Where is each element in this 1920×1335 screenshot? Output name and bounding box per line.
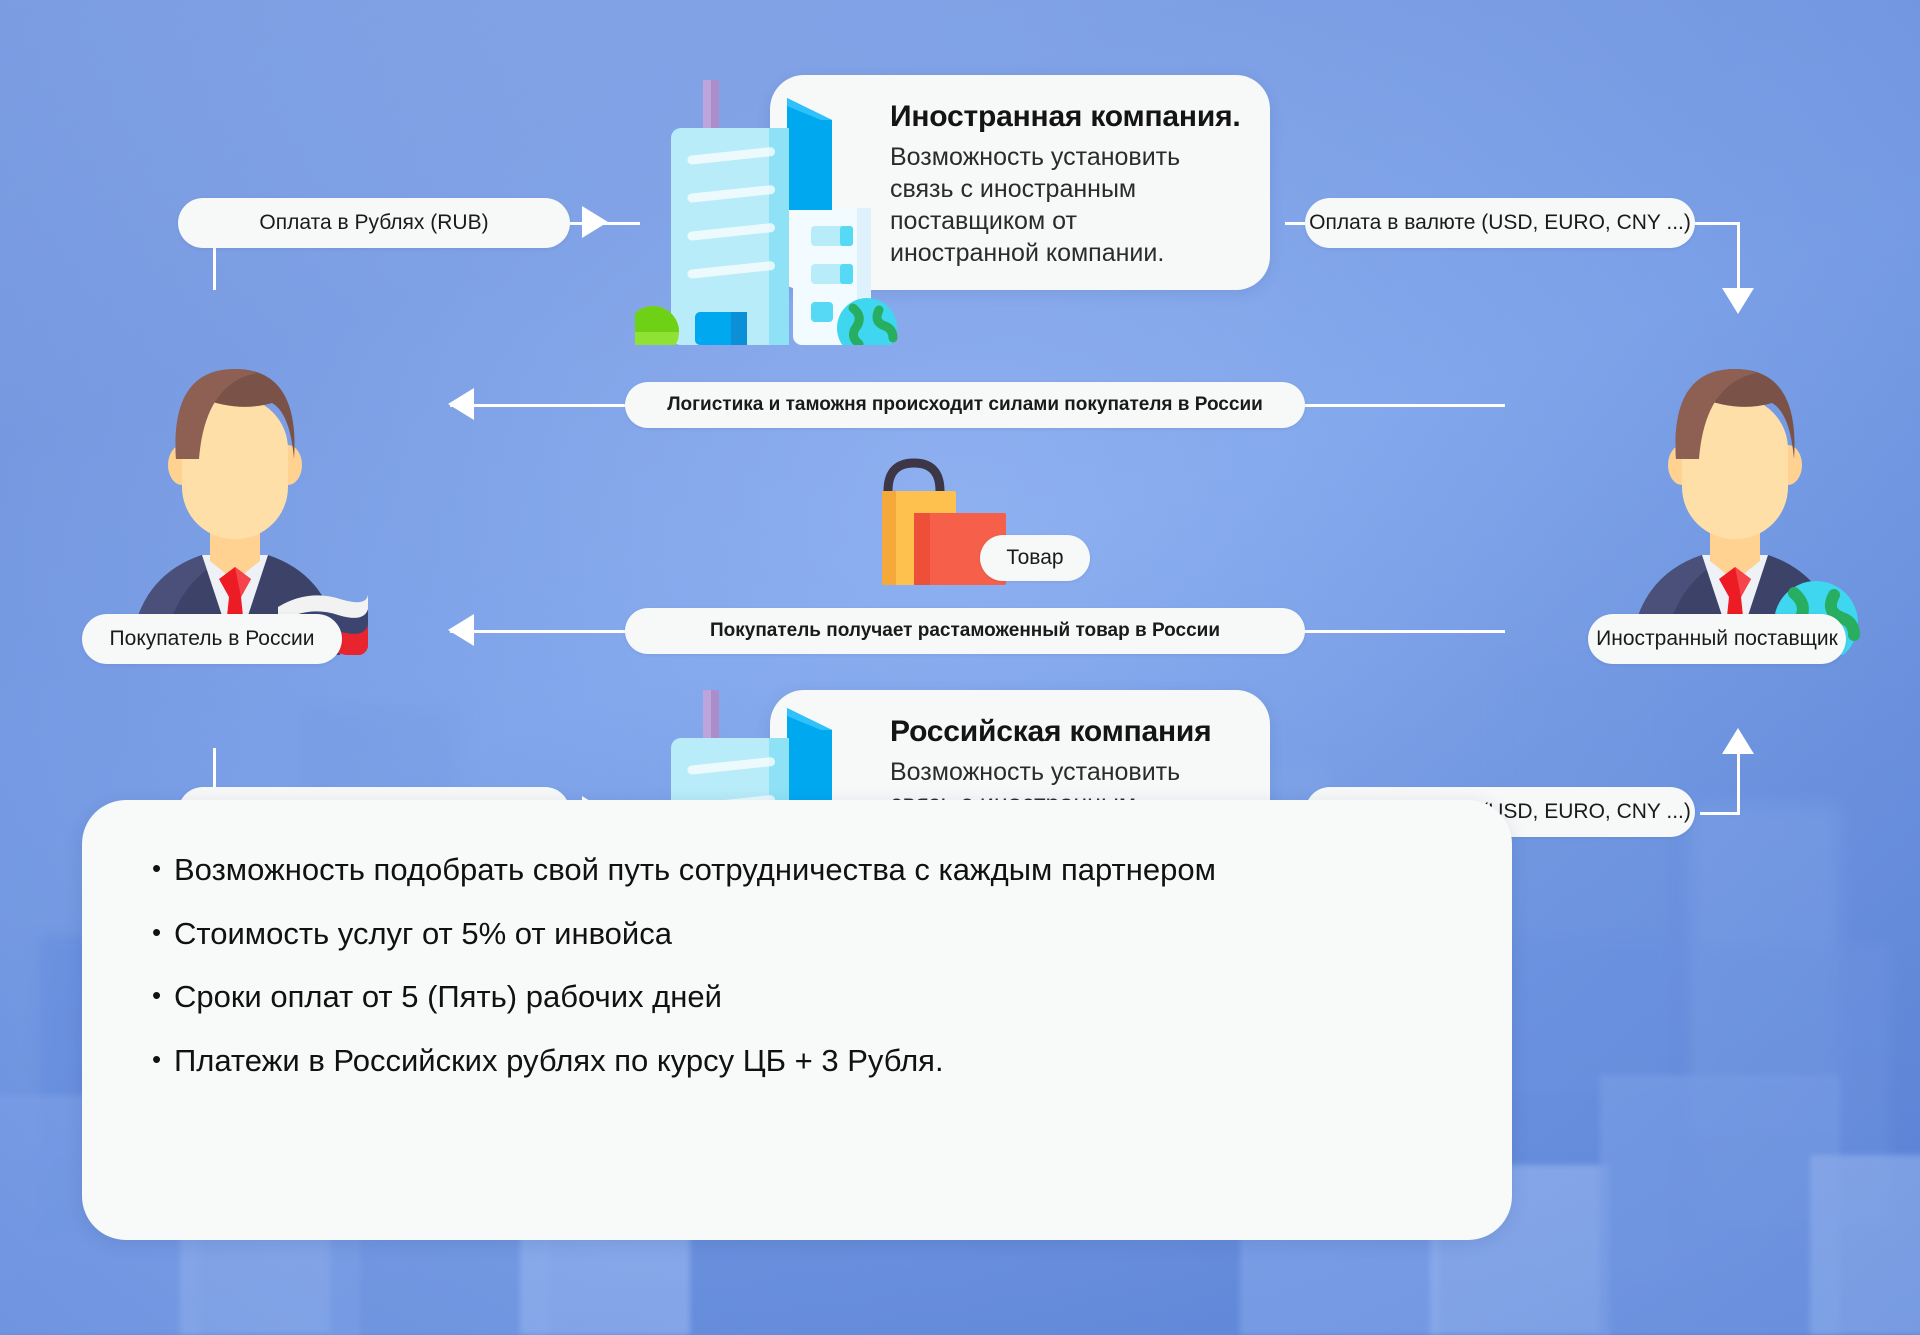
bullet-text: Стоимость услуг от 5% от инвойса: [174, 916, 1442, 953]
label-pay-currency-top[interactable]: Оплата в валюте (USD, EURO, CNY ...): [1305, 198, 1695, 248]
bullet-marker: •: [152, 916, 174, 950]
arrow-right-icon: [582, 206, 608, 238]
label-supplier[interactable]: Иностранный поставщик: [1588, 614, 1846, 664]
label-delivery[interactable]: Покупатель получает растаможенный товар …: [625, 608, 1305, 654]
connector-line: [1692, 222, 1740, 225]
label-text: Оплата в валюте (USD, EURO, CNY ...): [1309, 211, 1691, 235]
connector-line: [450, 404, 630, 407]
card-title: Российская компания: [890, 715, 1250, 749]
arrow-up-icon: [1722, 728, 1754, 754]
label-text: Иностранный поставщик: [1596, 627, 1838, 651]
list-item: • Возможность подобрать свой путь сотруд…: [152, 852, 1442, 889]
connector-line: [1737, 750, 1740, 814]
bullet-marker: •: [152, 979, 174, 1013]
card-title: Иностранная компания.: [890, 100, 1250, 134]
label-text: Покупатель получает растаможенный товар …: [710, 620, 1220, 642]
label-text: Товар: [1006, 546, 1063, 570]
bullet-marker: •: [152, 1043, 174, 1077]
bullet-text: Сроки оплат от 5 (Пять) рабочих дней: [174, 979, 1442, 1016]
office-building-illustration: [635, 80, 905, 345]
bullet-marker: •: [152, 852, 174, 886]
label-text: Оплата в Рублях (RUB): [259, 211, 488, 235]
list-item: • Сроки оплат от 5 (Пять) рабочих дней: [152, 979, 1442, 1016]
label-text: Покупатель в России: [110, 627, 315, 651]
list-item: • Платежи в Российских рублях по курсу Ц…: [152, 1043, 1442, 1080]
connector-line: [1300, 404, 1505, 407]
label-logistics[interactable]: Логистика и таможня происходит силами по…: [625, 382, 1305, 428]
bullet-text: Платежи в Российских рублях по курсу ЦБ …: [174, 1043, 1442, 1080]
label-text: Логистика и таможня происходит силами по…: [667, 394, 1263, 416]
arrow-left-icon: [448, 614, 474, 646]
connector-line: [1300, 630, 1505, 633]
connector-line: [450, 630, 630, 633]
label-buyer[interactable]: Покупатель в России: [82, 614, 342, 664]
list-item: • Стоимость услуг от 5% от инвойса: [152, 916, 1442, 953]
card-body: Возможность установить связь с иностранн…: [890, 141, 1250, 269]
connector-line: [1700, 812, 1740, 815]
benefits-panel: • Возможность подобрать свой путь сотруд…: [82, 800, 1512, 1240]
infographic-canvas: Иностранная компания. Возможность устано…: [0, 0, 1920, 1335]
bullet-text: Возможность подобрать свой путь сотрудни…: [174, 852, 1442, 889]
label-goods[interactable]: Товар: [980, 535, 1090, 581]
avatar-buyer: [100, 355, 370, 655]
label-pay-rub-top[interactable]: Оплата в Рублях (RUB): [178, 198, 570, 248]
arrow-down-icon: [1722, 288, 1754, 314]
avatar-foreign-supplier: [1600, 355, 1870, 655]
arrow-left-icon: [448, 388, 474, 420]
card-foreign-company-text: Иностранная компания. Возможность устано…: [890, 100, 1250, 269]
